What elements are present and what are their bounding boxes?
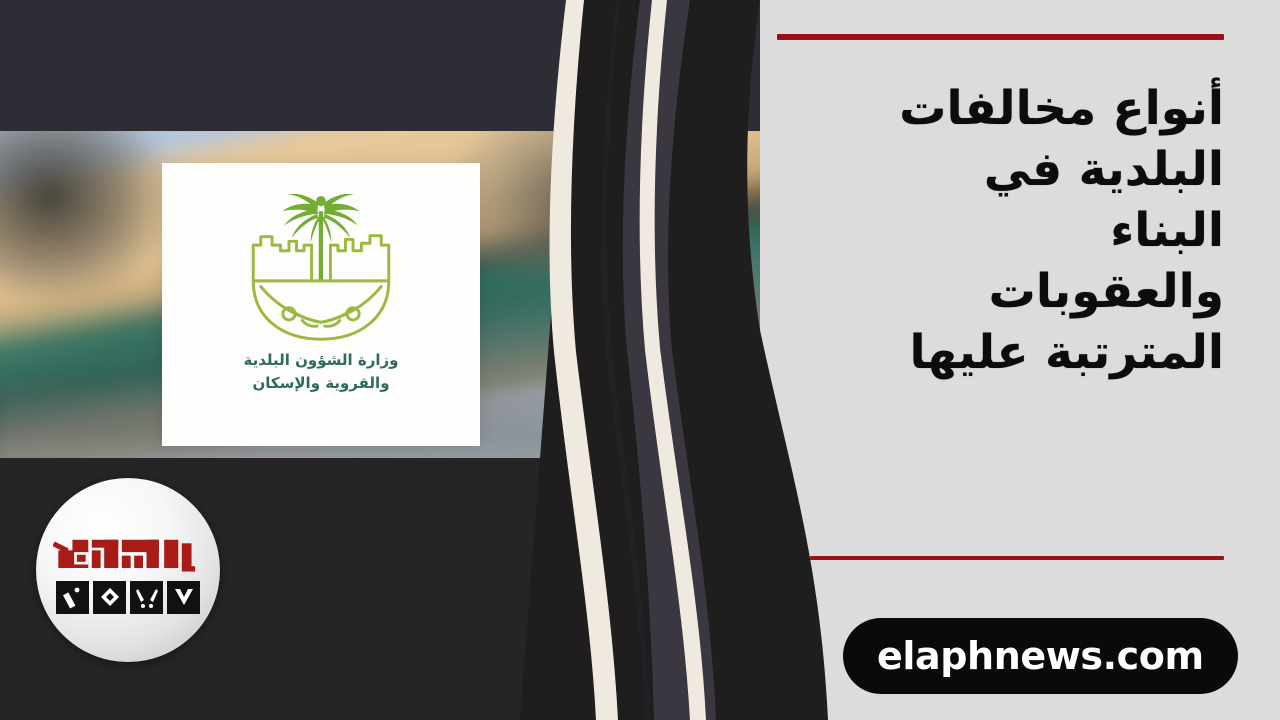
elaph-wordmark-icon bbox=[53, 527, 203, 579]
page-title: أنواع مخالفات البلدية في البناء والعقوبا… bbox=[804, 78, 1224, 383]
elaph-badge-logo[interactable] bbox=[36, 478, 220, 662]
palm-trunk-icon bbox=[319, 211, 323, 282]
ministry-logo-line2: والقروية والإسكان bbox=[243, 372, 398, 395]
poster-canvas: وزارة الشؤون البلدية والقروية والإسكان bbox=[0, 0, 1280, 720]
headline-line-1: أنواع مخالفات bbox=[804, 78, 1224, 139]
photo-blur-left bbox=[0, 131, 170, 301]
ministry-logo-inner: وزارة الشؤون البلدية والقروية والإسكان bbox=[162, 163, 480, 446]
ministry-logo-text: وزارة الشؤون البلدية والقروية والإسكان bbox=[243, 349, 398, 394]
headline-line-5: المترتبة عليها bbox=[804, 322, 1224, 383]
rule-top bbox=[777, 34, 1224, 40]
headline-line-3: البناء bbox=[804, 200, 1224, 261]
media-panel: وزارة الشؤون البلدية والقروية والإسكان bbox=[0, 0, 760, 720]
badge-square-2 bbox=[93, 581, 126, 614]
badge-square-4 bbox=[167, 581, 200, 614]
headline-line-2: البلدية في bbox=[804, 139, 1224, 200]
ministry-emblem-icon bbox=[226, 183, 416, 343]
ministry-logo-card: وزارة الشؤون البلدية والقروية والإسكان bbox=[162, 163, 480, 446]
top-letterbox-bar bbox=[0, 0, 760, 131]
rule-bottom bbox=[810, 556, 1224, 560]
badge-square-1 bbox=[56, 581, 89, 614]
headline-line-4: والعقوبات bbox=[804, 261, 1224, 322]
website-url-pill[interactable]: elaphnews.com bbox=[843, 618, 1238, 694]
elaph-badge-squares bbox=[56, 581, 200, 614]
ministry-logo-line1: وزارة الشؤون البلدية bbox=[243, 349, 398, 372]
crossed-swords-icon bbox=[261, 287, 381, 327]
website-url-label: elaphnews.com bbox=[877, 634, 1204, 678]
badge-square-3 bbox=[130, 581, 163, 614]
